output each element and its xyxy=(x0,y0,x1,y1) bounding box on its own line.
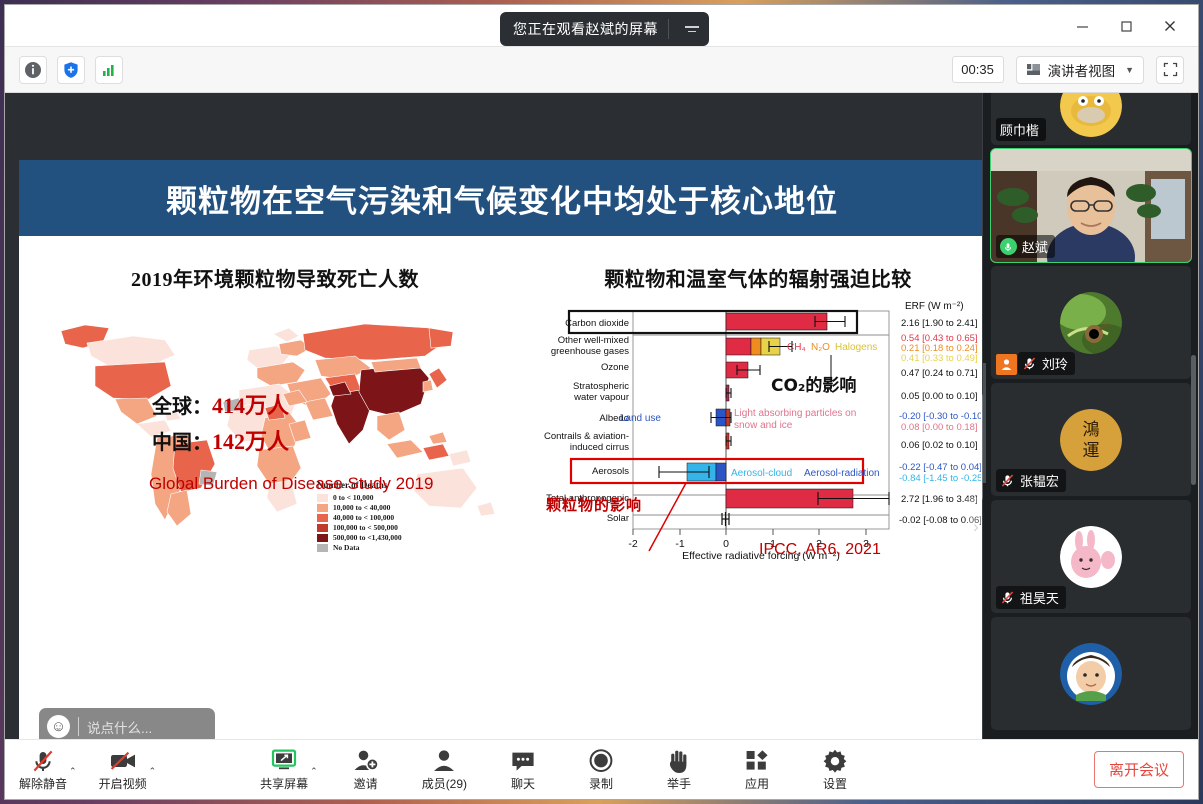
collapse-panel-handle[interactable]: › xyxy=(967,497,983,557)
slide-left-column: 2019年环境颗粒物导致死亡人数 xyxy=(19,236,531,739)
svg-text:-0.84 [-1.45 to -0.25]: -0.84 [-1.45 to -0.25] xyxy=(899,473,981,484)
participants-scrollbar-thumb[interactable] xyxy=(1191,355,1196,485)
participant-name: 张韫宏 xyxy=(1020,471,1059,490)
label-ch4: CH₄ xyxy=(787,342,806,353)
fullscreen-button[interactable] xyxy=(1156,56,1184,84)
participant-name-badge: 赵斌 xyxy=(996,235,1055,258)
svg-text:-1: -1 xyxy=(675,538,684,550)
view-mode-label: 演讲者视图 xyxy=(1048,60,1116,80)
meeting-body: 颗粒物在空气污染和气候变化中均处于核心地位 2019年环境颗粒物导致死亡人数 xyxy=(5,93,1198,739)
label-n2o: N₂O xyxy=(811,342,830,353)
legend-label: 10,000 to < 40,000 xyxy=(333,503,390,512)
subtoolbar-right-group: 00:35 演讲者视图 ▼ xyxy=(952,56,1184,84)
apps-icon xyxy=(744,748,770,774)
participants-icon xyxy=(432,748,456,774)
screen-share-banner: 您正在观看赵斌的屏幕 xyxy=(500,12,709,46)
raise-hand-label: 举手 xyxy=(667,775,691,792)
left-heading: 2019年环境颗粒物导致死亡人数 xyxy=(19,263,531,292)
legend-item: No Data xyxy=(317,543,477,552)
participant-tile-active[interactable]: 赵斌 xyxy=(991,149,1191,262)
meeting-toolbar: 解除静音 ⌃ 开启视频 ⌃ 共享屏幕 xyxy=(5,739,1198,799)
banner-divider xyxy=(668,19,669,39)
svg-text:water vapour: water vapour xyxy=(573,392,629,403)
screen-share-banner-label: 您正在观看赵斌的屏幕 xyxy=(513,19,658,39)
share-screen-icon xyxy=(270,748,298,774)
video-group: 开启视频 ⌃ xyxy=(99,748,157,792)
erf-chart-svg: -2-10 123 Carbon dioxide Other well-mixe… xyxy=(541,299,981,561)
chat-divider xyxy=(78,717,79,736)
right-source-citation: IPCC, AR6, 2021 xyxy=(759,541,881,559)
participants-scrollbar[interactable] xyxy=(1191,95,1196,739)
info-icon[interactable] xyxy=(19,56,47,84)
participant-name: 赵斌 xyxy=(1022,237,1048,256)
share-screen-button[interactable]: 共享屏幕 xyxy=(260,748,308,792)
slide-columns: 2019年环境颗粒物导致死亡人数 xyxy=(19,236,983,739)
svg-text:Contrails & aviation-: Contrails & aviation- xyxy=(544,431,629,442)
legend-label: 0 to < 10,000 xyxy=(333,493,374,502)
legend-label: 500,000 to <1,430,000 xyxy=(333,533,402,542)
invite-button[interactable]: 邀请 xyxy=(344,748,388,792)
mic-muted-icon xyxy=(1000,473,1015,488)
svg-text:0.08 [0.00 to 0.18]: 0.08 [0.00 to 0.18] xyxy=(901,422,978,433)
avatar xyxy=(1060,643,1122,705)
svg-text:0: 0 xyxy=(723,538,729,550)
participant-tile[interactable]: 顾巾楷 xyxy=(991,93,1191,145)
share-screen-label: 共享屏幕 xyxy=(260,775,308,792)
legend-swatch xyxy=(317,494,328,502)
audio-group: 解除静音 ⌃ xyxy=(19,748,77,792)
participant-name-badge: 张韫宏 xyxy=(996,469,1066,492)
stat-china-value: 142万人 xyxy=(212,429,289,454)
avatar xyxy=(1060,526,1122,588)
video-options-caret[interactable]: ⌃ xyxy=(149,766,157,777)
chat-input-overlay[interactable]: ☺ 说点什么... xyxy=(39,708,215,739)
minimize-button[interactable] xyxy=(1060,5,1104,47)
mic-muted-icon xyxy=(1000,590,1015,605)
chat-label: 聊天 xyxy=(511,775,535,792)
shared-screen-content: 颗粒物在空气污染和气候变化中均处于核心地位 2019年环境颗粒物导致死亡人数 xyxy=(19,93,983,739)
participants-scroll-edge xyxy=(983,363,986,483)
annotation-co2: CO₂的影响 xyxy=(771,375,856,396)
label-light-absorbing-1: Light absorbing particles on xyxy=(734,408,856,419)
svg-text:-0.20 [-0.30 to -0.10]: -0.20 [-0.30 to -0.10] xyxy=(899,411,981,422)
stat-global-label: 全球： xyxy=(152,396,212,418)
erf-column-header: ERF (W m⁻²) xyxy=(905,301,964,312)
avatar xyxy=(1060,292,1122,354)
microphone-muted-icon xyxy=(30,748,56,774)
death-statistics: 全球：414万人 中国：142万人 xyxy=(152,388,289,460)
label-halogens: Halogens xyxy=(835,342,877,353)
host-badge-icon xyxy=(996,354,1017,375)
apps-button[interactable]: 应用 xyxy=(735,748,779,792)
participant-tile[interactable] xyxy=(991,617,1191,730)
apps-label: 应用 xyxy=(745,775,769,792)
unmute-button[interactable]: 解除静音 xyxy=(19,748,67,792)
banner-menu-icon[interactable] xyxy=(679,17,705,41)
meeting-subtoolbar: 00:35 演讲者视图 ▼ xyxy=(5,47,1198,93)
participant-name-badge: 祖昊天 xyxy=(996,586,1066,609)
legend-label: 100,000 to < 500,000 xyxy=(333,523,398,532)
svg-text:Ozone: Ozone xyxy=(601,362,629,373)
legend-swatch xyxy=(317,514,328,522)
settings-label: 设置 xyxy=(823,775,847,792)
legend-swatch xyxy=(317,504,328,512)
svg-text:運: 運 xyxy=(1082,441,1099,461)
camera-off-icon xyxy=(108,748,138,774)
annotation-particles: 颗粒物的影响 xyxy=(546,494,642,515)
right-heading: 颗粒物和温室气体的辐射强迫比较 xyxy=(531,263,983,292)
mic-muted-icon xyxy=(1022,356,1037,371)
svg-text:greenhouse gases: greenhouse gases xyxy=(551,346,629,357)
members-label: 成员(29) xyxy=(422,775,467,792)
legend-item: 100,000 to < 500,000 xyxy=(317,523,477,532)
label-land-use: Land use xyxy=(620,413,662,424)
stat-china-row: 中国：142万人 xyxy=(152,424,289,456)
stat-global-value: 414万人 xyxy=(212,393,289,418)
slide-right-column: 颗粒物和温室气体的辐射强迫比较 xyxy=(531,236,983,739)
legend-item: 10,000 to < 40,000 xyxy=(317,503,477,512)
erf-bar-chart: -2-10 123 Carbon dioxide Other well-mixe… xyxy=(541,299,981,559)
label-light-absorbing-2: snow and ice xyxy=(734,420,793,431)
participant-name: 刘玲 xyxy=(1042,354,1068,373)
record-icon xyxy=(588,748,614,774)
legend-item: 0 to < 10,000 xyxy=(317,493,477,502)
label-aerosol-cloud: Aerosol-cloud xyxy=(731,468,792,479)
chat-button[interactable]: 聊天 xyxy=(501,748,545,792)
window-controls xyxy=(1060,5,1192,47)
unmute-label: 解除静音 xyxy=(19,775,67,792)
slide-title: 颗粒物在空气污染和气候变化中均处于核心地位 xyxy=(166,176,838,221)
start-video-button[interactable]: 开启视频 xyxy=(99,748,147,792)
settings-button[interactable]: 设置 xyxy=(813,748,857,792)
raise-hand-icon xyxy=(667,748,691,774)
participant-name-badge: 顾巾楷 xyxy=(996,118,1046,141)
svg-text:induced cirrus: induced cirrus xyxy=(570,442,629,453)
svg-text:Other well-mixed: Other well-mixed xyxy=(558,335,629,346)
zoom-meeting-window: 您正在观看赵斌的屏幕 xyxy=(4,4,1199,800)
svg-text:Carbon dioxide: Carbon dioxide xyxy=(565,318,629,329)
svg-text:0.05 [0.00 to 0.10]: 0.05 [0.00 to 0.10] xyxy=(901,391,978,402)
presentation-slide: 颗粒物在空气污染和气候变化中均处于核心地位 2019年环境颗粒物导致死亡人数 xyxy=(19,160,983,739)
record-label: 录制 xyxy=(589,775,613,792)
members-button[interactable]: 成员(29) xyxy=(422,748,467,792)
participant-name: 顾巾楷 xyxy=(1000,120,1039,139)
gear-icon xyxy=(822,748,848,774)
legend-swatch xyxy=(317,534,328,542)
svg-text:2.16 [1.90 to 2.41]: 2.16 [1.90 to 2.41] xyxy=(901,318,978,329)
invite-label: 邀请 xyxy=(354,775,378,792)
svg-text:Aerosols: Aerosols xyxy=(592,466,629,477)
label-aerosol-radiation: Aerosol-radiation xyxy=(804,468,880,479)
participant-name-badge: 刘玲 xyxy=(1018,352,1075,375)
participant-tile[interactable]: 刘玲 xyxy=(991,266,1191,379)
meeting-timer: 00:35 xyxy=(952,56,1004,83)
maximize-button[interactable] xyxy=(1104,5,1148,47)
avatar: 鴻運 xyxy=(1060,409,1122,471)
legend-item: 500,000 to <1,430,000 xyxy=(317,533,477,542)
audio-options-caret[interactable]: ⌃ xyxy=(69,766,77,777)
svg-text:0.47 [0.24 to 0.71]: 0.47 [0.24 to 0.71] xyxy=(901,368,978,379)
legend-label: 40,000 to < 100,000 xyxy=(333,513,394,522)
svg-text:0.06 [0.02 to 0.10]: 0.06 [0.02 to 0.10] xyxy=(901,440,978,451)
leave-meeting-button[interactable]: 离开会议 xyxy=(1094,751,1184,788)
window-titlebar: 您正在观看赵斌的屏幕 xyxy=(5,5,1198,47)
slide-title-bar: 颗粒物在空气污染和气候变化中均处于核心地位 xyxy=(19,160,983,236)
subtoolbar-left-group xyxy=(19,56,123,84)
avatar xyxy=(1060,93,1122,137)
svg-text:Stratospheric: Stratospheric xyxy=(573,381,629,392)
record-button[interactable]: 录制 xyxy=(579,748,623,792)
participant-tile[interactable]: 祖昊天 xyxy=(991,500,1191,613)
participant-name: 祖昊天 xyxy=(1020,588,1059,607)
chat-placeholder: 说点什么... xyxy=(87,717,152,737)
participant-tile[interactable]: 鴻運 张韫宏 xyxy=(991,383,1191,496)
svg-text:-2: -2 xyxy=(628,538,637,550)
legend-item: 40,000 to < 100,000 xyxy=(317,513,477,522)
svg-text:-0.22 [-0.47 to 0.04]: -0.22 [-0.47 to 0.04] xyxy=(899,462,981,473)
speaker-view-icon xyxy=(1026,62,1041,77)
stat-global-row: 全球：414万人 xyxy=(152,388,289,420)
stat-china-label: 中国： xyxy=(152,432,212,454)
emoji-icon[interactable]: ☺ xyxy=(47,715,70,738)
chat-icon xyxy=(510,748,536,774)
svg-text:0.41 [0.33 to 0.49]: 0.41 [0.33 to 0.49] xyxy=(901,353,978,364)
left-source-citation: Global Burden of Disease Study 2019 xyxy=(149,474,433,494)
chevron-down-icon: ▼ xyxy=(1125,65,1134,75)
network-stats-icon[interactable] xyxy=(95,56,123,84)
legend-swatch xyxy=(317,544,328,552)
svg-text:鴻: 鴻 xyxy=(1082,420,1099,440)
legend-label: No Data xyxy=(333,543,359,552)
shared-screen-area: 颗粒物在空气污染和气候变化中均处于核心地位 2019年环境颗粒物导致死亡人数 xyxy=(5,93,983,739)
close-button[interactable] xyxy=(1148,5,1192,47)
share-options-caret[interactable]: ⌃ xyxy=(310,766,318,777)
shield-plus-icon[interactable] xyxy=(57,56,85,84)
share-group: 共享屏幕 ⌃ xyxy=(260,748,318,792)
raise-hand-button[interactable]: 举手 xyxy=(657,748,701,792)
mic-on-icon xyxy=(1000,238,1017,255)
participants-strip[interactable]: 顾巾楷 xyxy=(983,93,1198,739)
view-mode-selector[interactable]: 演讲者视图 ▼ xyxy=(1016,56,1144,84)
participant-list: 顾巾楷 xyxy=(983,93,1198,734)
start-video-label: 开启视频 xyxy=(99,775,147,792)
invite-icon xyxy=(353,748,379,774)
legend-swatch xyxy=(317,524,328,532)
